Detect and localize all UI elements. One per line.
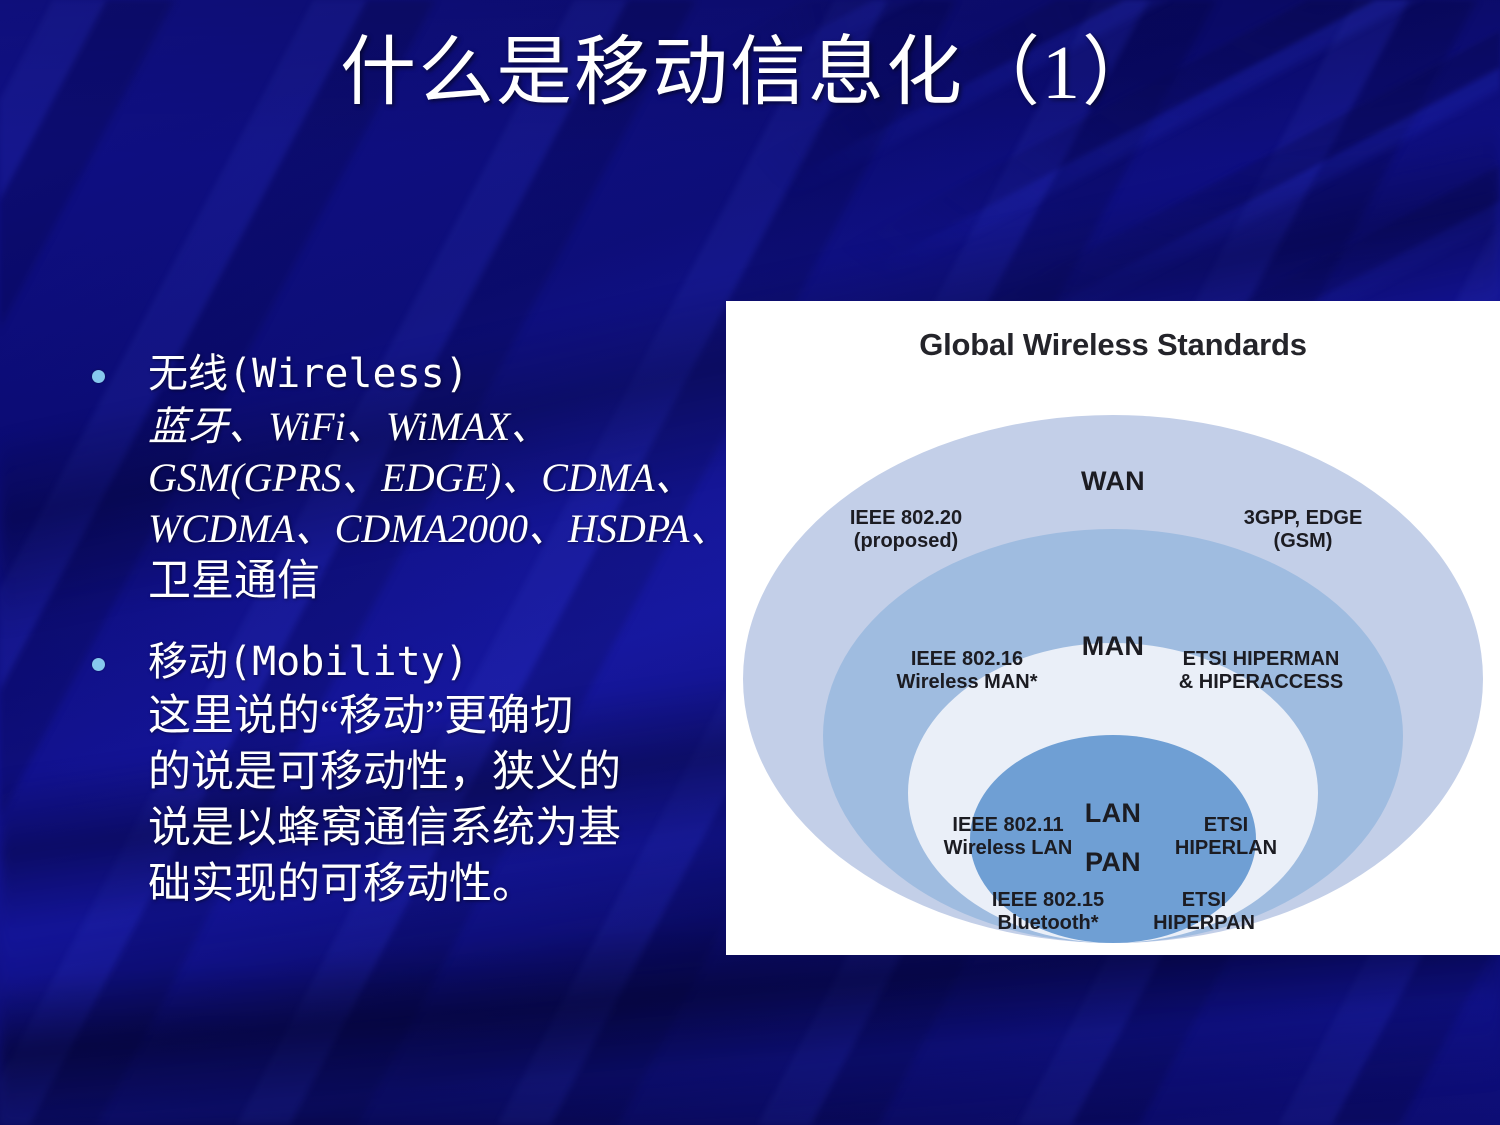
bullet-row-wireless: 无线(Wireless) xyxy=(70,348,730,401)
tier-right-label-man-line1: ETSI HIPERMAN xyxy=(1179,648,1343,671)
tier-right-label-lan-line1: ETSI xyxy=(1175,814,1277,837)
tier-left-label-pan: IEEE 802.15 Bluetooth* xyxy=(992,889,1104,935)
bullet-list: 无线(Wireless) 蓝牙、WiFi、WiMAX、 GSM(GPRS、EDG… xyxy=(70,348,730,919)
tier-right-label-man: ETSI HIPERMAN & HIPERACCESS xyxy=(1179,648,1343,694)
bullet-block-mobility: 移动(Mobility) 这里说的“移动”更确切 的说是可移动性，狭义的 说是以… xyxy=(70,636,730,912)
bullet-dot-icon xyxy=(92,370,105,383)
tier-left-label-lan: IEEE 802.11 Wireless LAN xyxy=(944,814,1073,860)
tier-left-label-pan-line1: IEEE 802.15 xyxy=(992,889,1104,912)
bullet-heading-wireless: 无线(Wireless) xyxy=(148,348,730,401)
bullet-block-wireless: 无线(Wireless) 蓝牙、WiFi、WiMAX、 GSM(GPRS、EDG… xyxy=(70,348,730,610)
tier-right-label-pan: ETSI HIPERPAN xyxy=(1153,889,1255,935)
tier-left-label-man: IEEE 802.16 Wireless MAN* xyxy=(897,648,1038,694)
bullet-sub-wireless-line-2: GSM(GPRS、EDGE)、CDMA、 xyxy=(70,452,730,503)
global-wireless-standards-diagram: Global Wireless Standards WAN IEEE 802.2… xyxy=(726,301,1500,955)
tier-left-label-lan-line1: IEEE 802.11 xyxy=(944,814,1073,837)
bullet-dot-icon xyxy=(92,658,105,671)
bullet-sub-mobility-line-2: 的说是可移动性，狭义的 xyxy=(70,745,730,801)
tier-right-label-pan-line2: HIPERPAN xyxy=(1153,912,1255,935)
bullet-sub-mobility-line-3: 说是以蜂窝通信系统为基 xyxy=(70,801,730,857)
tier-right-label-wan-line1: 3GPP, EDGE xyxy=(1244,507,1363,530)
tier-left-label-pan-line2: Bluetooth* xyxy=(992,912,1104,935)
tier-left-label-wan-line2: (proposed) xyxy=(850,530,962,553)
bullet-sub-wireless-line-1: 蓝牙、WiFi、WiMAX、 xyxy=(70,401,730,452)
tier-right-label-lan-line2: HIPERLAN xyxy=(1175,837,1277,860)
tier-left-label-man-line2: Wireless MAN* xyxy=(897,671,1038,694)
tier-right-label-pan-line1: ETSI xyxy=(1153,889,1255,912)
bullet-sub-wireless-line-4: 卫星通信 xyxy=(70,554,730,610)
tier-left-label-lan-line2: Wireless LAN xyxy=(944,837,1073,860)
tier-label-pan: PAN xyxy=(1085,847,1141,878)
tier-left-label-wan-line1: IEEE 802.20 xyxy=(850,507,962,530)
tier-label-wan: WAN xyxy=(1081,466,1145,497)
tier-right-label-wan: 3GPP, EDGE (GSM) xyxy=(1244,507,1363,553)
tier-label-man: MAN xyxy=(1082,631,1144,662)
bullet-sub-mobility-line-1: 这里说的“移动”更确切 xyxy=(70,689,730,745)
tier-left-label-wan: IEEE 802.20 (proposed) xyxy=(850,507,962,553)
tier-left-label-man-line1: IEEE 802.16 xyxy=(897,648,1038,671)
bullet-sub-wireless-line-3: WCDMA、CDMA2000、HSDPA、 xyxy=(70,503,730,554)
bullet-sub-mobility-line-4: 础实现的可移动性。 xyxy=(70,857,730,913)
tier-right-label-lan: ETSI HIPERLAN xyxy=(1175,814,1277,860)
tier-right-label-man-line2: & HIPERACCESS xyxy=(1179,671,1343,694)
bullet-heading-mobility: 移动(Mobility) xyxy=(148,636,730,689)
slide-title: 什么是移动信息化（1） xyxy=(0,34,1500,114)
tier-label-lan: LAN xyxy=(1085,798,1141,829)
tier-right-label-wan-line2: (GSM) xyxy=(1244,530,1363,553)
bullet-row-mobility: 移动(Mobility) xyxy=(70,636,730,689)
slide-canvas: 什么是移动信息化（1） 无线(Wireless) 蓝牙、WiFi、WiMAX、 … xyxy=(0,0,1500,1125)
